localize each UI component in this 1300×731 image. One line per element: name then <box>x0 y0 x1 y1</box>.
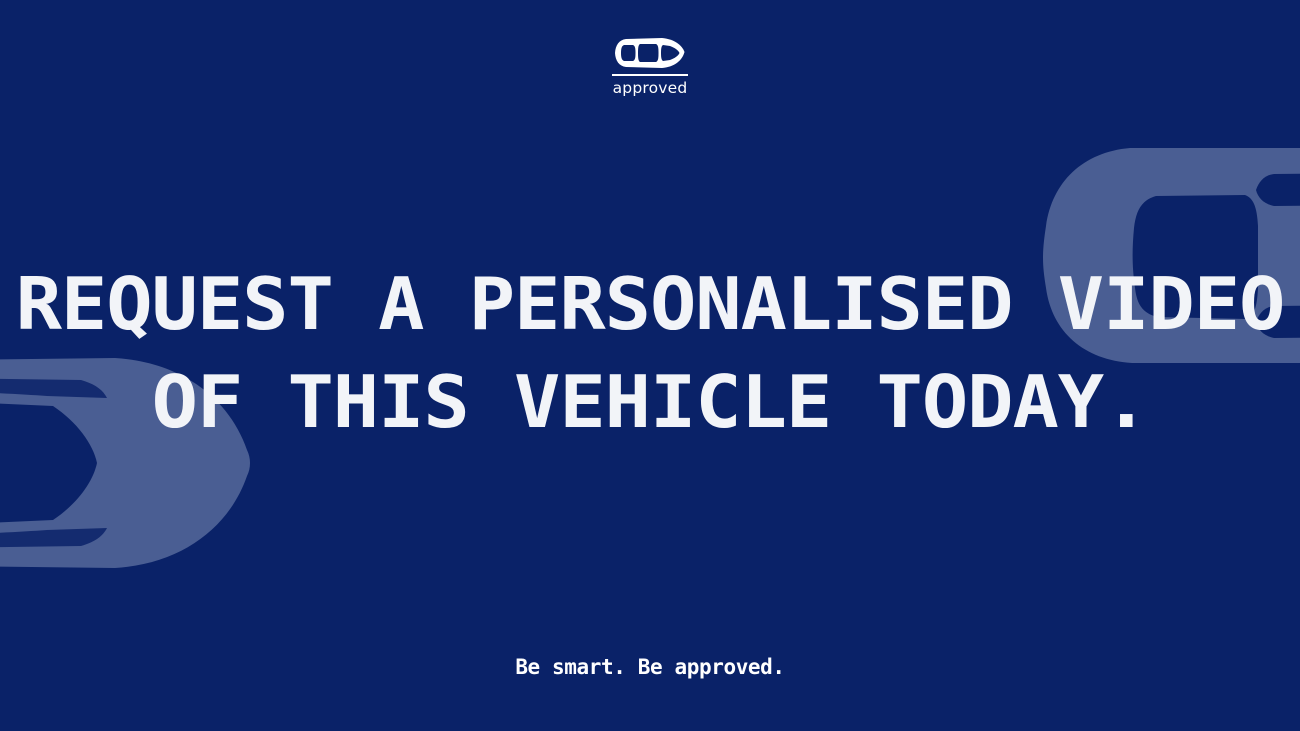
logo-divider <box>612 74 688 76</box>
brand-logo: approved <box>0 36 1300 96</box>
tagline: Be smart. Be approved. <box>0 655 1300 679</box>
promo-banner: approved REQUEST A PERSONALISED VIDEO OF… <box>0 0 1300 731</box>
headline: REQUEST A PERSONALISED VIDEO OF THIS VEH… <box>0 268 1300 438</box>
logo-wordmark: approved <box>613 81 688 97</box>
headline-line-1: REQUEST A PERSONALISED VIDEO <box>0 268 1300 340</box>
headline-line-2: OF THIS VEHICLE TODAY. <box>0 366 1300 438</box>
car-top-view-icon <box>614 36 686 70</box>
